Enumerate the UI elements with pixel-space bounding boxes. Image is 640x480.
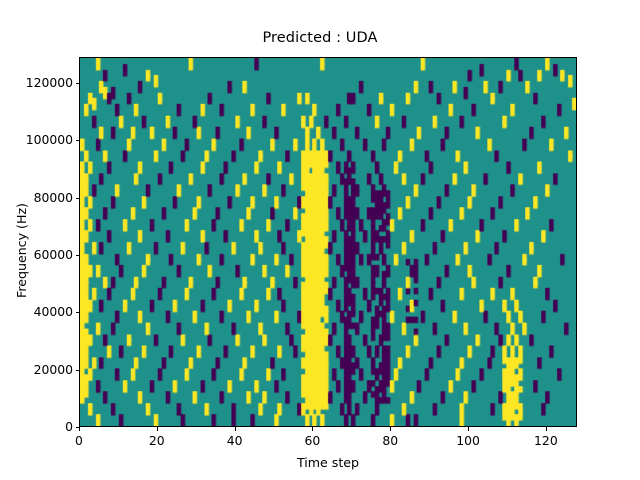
y-tick-label: 0 <box>7 419 73 434</box>
x-tick-mark <box>390 427 391 431</box>
y-tick-mark <box>76 140 80 141</box>
x-axis-label: Time step <box>79 455 577 470</box>
heatmap-axes <box>79 57 577 427</box>
y-axis-label: Frequency (Hz) <box>14 203 29 298</box>
y-tick-mark <box>76 83 80 84</box>
x-tick-mark <box>312 427 313 431</box>
y-tick-mark <box>76 255 80 256</box>
x-tick-label: 100 <box>438 433 498 448</box>
x-tick-label: 0 <box>49 433 109 448</box>
x-tick-label: 80 <box>360 433 420 448</box>
y-tick-mark <box>76 370 80 371</box>
y-tick-mark <box>76 198 80 199</box>
x-tick-mark <box>546 427 547 431</box>
x-tick-mark <box>79 427 80 431</box>
heatmap-canvas <box>80 58 576 426</box>
x-tick-mark <box>468 427 469 431</box>
x-tick-mark <box>235 427 236 431</box>
y-tick-label: 20000 <box>7 362 73 377</box>
x-tick-label: 40 <box>205 433 265 448</box>
y-tick-mark <box>76 427 80 428</box>
matplotlib-figure: Predicted : UDA 020406080100120020000400… <box>0 0 640 480</box>
y-tick-label: 100000 <box>7 132 73 147</box>
x-tick-mark <box>157 427 158 431</box>
y-tick-mark <box>76 312 80 313</box>
x-tick-label: 60 <box>282 433 342 448</box>
x-tick-label: 20 <box>127 433 187 448</box>
y-tick-label: 40000 <box>7 304 73 319</box>
y-tick-label: 120000 <box>7 75 73 90</box>
chart-title: Predicted : UDA <box>0 30 640 46</box>
x-tick-label: 120 <box>516 433 576 448</box>
